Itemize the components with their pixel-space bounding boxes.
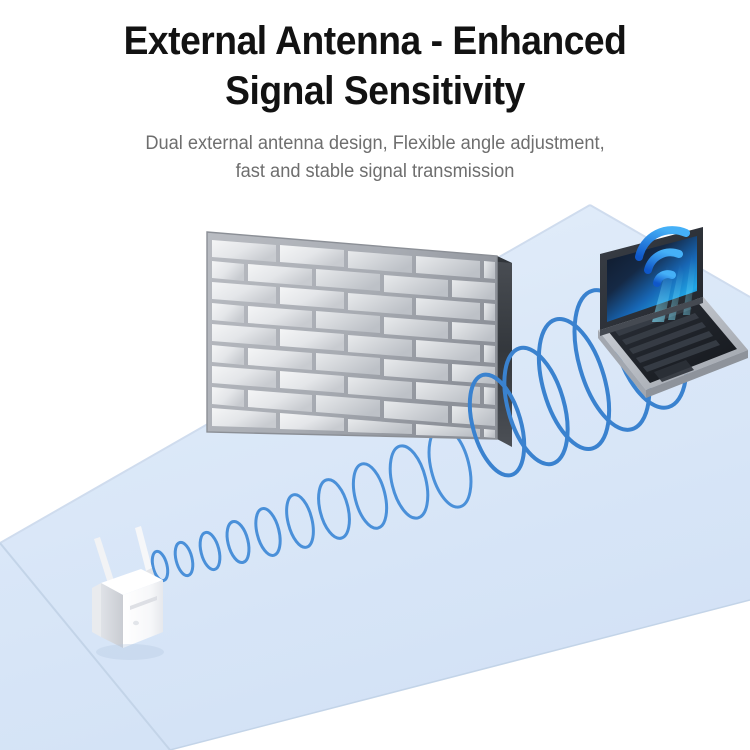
header: External Antenna - EnhancedSignal Sensit…: [0, 0, 750, 186]
brick-wall: [207, 232, 512, 447]
page-title-line-1: External Antenna - Enhanced: [124, 19, 627, 63]
page-subtitle-line-1: Dual external antenna design, Flexible a…: [145, 133, 604, 154]
page-subtitle-line-2: fast and stable signal transmission: [236, 161, 515, 182]
product-feature-banner: External Antenna - EnhancedSignal Sensit…: [0, 0, 750, 750]
page-title-line-2: Signal Sensitivity: [225, 69, 525, 113]
page-subtitle: Dual external antenna design, Flexible a…: [15, 116, 735, 186]
page-title: External Antenna - EnhancedSignal Sensit…: [26, 0, 724, 116]
